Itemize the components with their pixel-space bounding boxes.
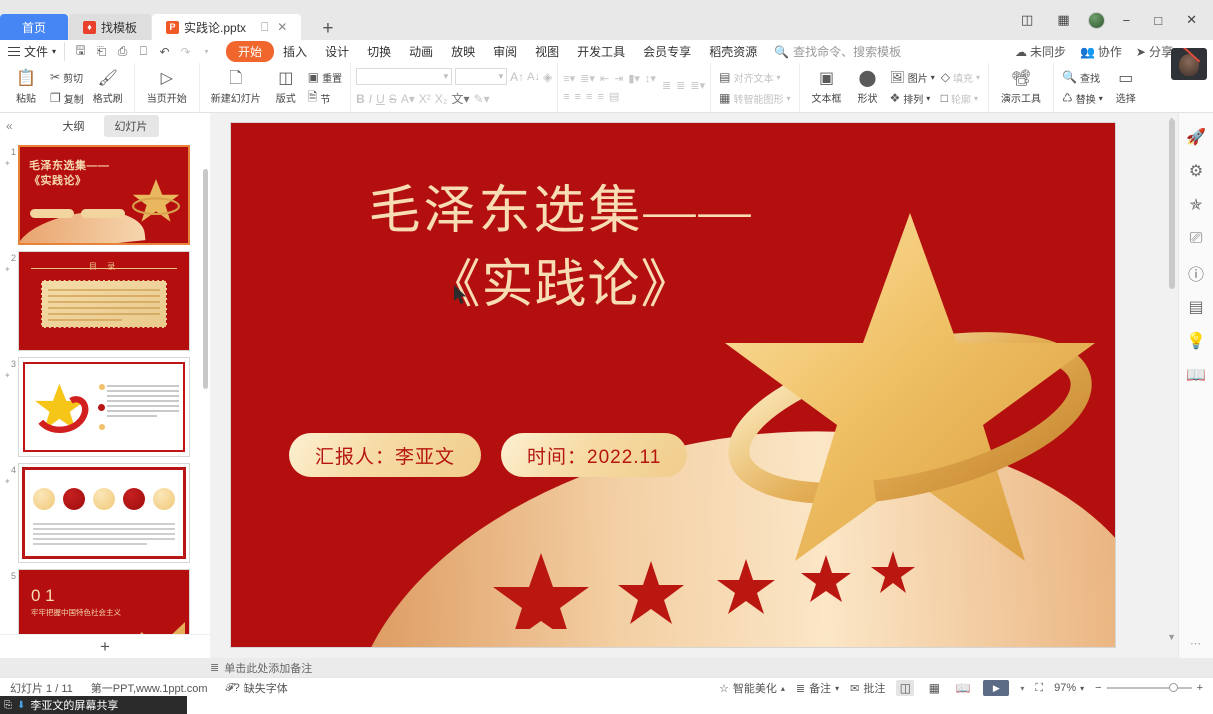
grow-font-button[interactable]: A↑ bbox=[510, 70, 524, 84]
share-label: 分享 bbox=[1149, 43, 1173, 60]
minimize-button[interactable]: − bbox=[1117, 11, 1137, 30]
reading-view-icon[interactable]: 📖 bbox=[954, 680, 972, 696]
zoom-out-button[interactable]: − bbox=[1095, 682, 1101, 694]
tab-home-label: 首页 bbox=[22, 19, 46, 36]
slide-thumbnail-3[interactable]: 3 ✦ bbox=[0, 351, 210, 457]
screen-share-label: 李亚文的屏幕共享 bbox=[30, 697, 118, 713]
share-button[interactable]: ➤ 分享 bbox=[1136, 43, 1173, 60]
thumb-text-lines bbox=[107, 382, 179, 420]
ribbon-group-text-align: ▤ 对齐文本 ▾ ▦ 转智能图形 ▾ bbox=[711, 63, 799, 113]
screen-share-bar[interactable]: ⎘ ⬇ 李亚文的屏幕共享 bbox=[0, 696, 187, 714]
present-tools-icon: 📽 bbox=[1011, 70, 1031, 88]
search-box[interactable]: 🔍 查找命令、搜索模板 bbox=[774, 43, 901, 60]
download-icon: ⬇ bbox=[17, 700, 25, 711]
arrange-icon: ❖ bbox=[890, 91, 901, 105]
shape-button[interactable]: ⬤ 形状 bbox=[849, 65, 887, 111]
align-text-label: 对齐文本 bbox=[733, 70, 773, 85]
wps-presentation-window: 首页 ♦ 找模板 P 实践论.pptx ⎕ ✕ + ◫ ▦ − □ ✕ bbox=[0, 0, 1213, 714]
list-style-2-icon[interactable]: ≣ bbox=[676, 79, 685, 92]
thumb-toc-header: 目 录 bbox=[19, 261, 189, 272]
notes-icon: ≣ bbox=[210, 661, 219, 674]
ribbon-group-slides: 🗋 新建幻灯片 ◫ 版式 ▣ 重置 🗎 节 bbox=[200, 63, 351, 113]
shape-icon: ⬤ bbox=[859, 70, 877, 88]
zoom-in-button[interactable]: + bbox=[1197, 682, 1203, 694]
indent-icon[interactable]: ⇥ bbox=[614, 72, 623, 85]
play-slideshow-button[interactable]: ▶ bbox=[983, 680, 1009, 696]
slide-panel-tabs: « 大纲 幻灯片 bbox=[0, 113, 210, 139]
share-icon: ➤ bbox=[1136, 45, 1146, 59]
avatar[interactable] bbox=[1088, 12, 1105, 29]
present-tools-label: 演示工具 bbox=[1001, 90, 1041, 105]
outline-button[interactable]: □ 轮廓 ▾ bbox=[938, 89, 983, 107]
search-placeholder: 查找命令、搜索模板 bbox=[793, 43, 901, 60]
print-icon[interactable]: ⎙ bbox=[113, 42, 132, 61]
distribute-icon[interactable]: ▤ bbox=[609, 90, 619, 103]
align-left-icon[interactable]: ≡ bbox=[563, 91, 569, 103]
maximize-button[interactable]: □ bbox=[1148, 11, 1168, 30]
start-from-page-button[interactable]: ▷ 当页开始 bbox=[140, 65, 194, 111]
slide-title-line1: 毛泽东选集—— bbox=[231, 175, 891, 249]
arrange-label: 排列 bbox=[903, 91, 923, 106]
sliders-icon[interactable]: ⚙ bbox=[1186, 161, 1206, 181]
normal-view-icon[interactable]: ◫ bbox=[896, 680, 914, 696]
play-circle-icon: ▷ bbox=[161, 70, 173, 88]
smart-beautify-button[interactable]: ☆ 智能美化 ▴ bbox=[719, 680, 785, 696]
ribbon-group-slideshow: ▷ 当页开始 bbox=[135, 63, 200, 113]
tab-docer[interactable]: 稻壳资源 bbox=[700, 41, 766, 62]
replace-icon: ♺ bbox=[1062, 91, 1073, 105]
save-icon[interactable]: 🖫 bbox=[71, 42, 90, 61]
pinyin-icon[interactable]: 文▾ bbox=[452, 90, 470, 107]
align-center-icon[interactable]: ≡ bbox=[575, 91, 581, 103]
subscript-button[interactable]: X₂ bbox=[435, 92, 448, 106]
comment-icon: ✉ bbox=[850, 682, 859, 695]
slide-star-icon: ✦ bbox=[4, 159, 11, 168]
tab-start[interactable]: 开始 bbox=[226, 41, 274, 62]
reset-button[interactable]: ▣ 重置 bbox=[305, 68, 345, 86]
ribbon-group-paragraph: ≡▾ ≣▾ ⇤ ⇥ ▮▾ ↕▾ ≡ ≡ ≡ ≡ ▤ ≣ ≣ bbox=[558, 63, 711, 113]
picture-label: 图片 bbox=[908, 70, 928, 85]
slide-star-icon: ✦ bbox=[4, 477, 11, 486]
add-slide-button[interactable]: + bbox=[0, 634, 210, 658]
status-bar: 幻灯片 1 / 11 第一PPT,www.1ppt.com 𝓕? 缺失字体 ☆ … bbox=[0, 677, 1213, 698]
select-icon: ▭ bbox=[1118, 70, 1133, 88]
slide-thumbnail-4[interactable]: 4 ✦ bbox=[0, 457, 210, 563]
superscript-button[interactable]: X² bbox=[419, 92, 431, 106]
slide-number: 5 bbox=[2, 571, 16, 581]
zoom-level-label: 97% bbox=[1054, 682, 1076, 694]
document-tab-bar: 首页 ♦ 找模板 P 实践论.pptx ⎕ ✕ + ◫ ▦ − □ ✕ bbox=[0, 0, 1213, 40]
right-tool-rail: 🚀 ⚙ ✯ ⎚ ⓘ ▤ 💡 📖 ⋯ bbox=[1178, 113, 1213, 658]
book-icon[interactable]: 📖 bbox=[1186, 365, 1206, 385]
hamburger-icon bbox=[8, 44, 20, 59]
undo-icon[interactable]: ↶ bbox=[155, 42, 174, 61]
current-slide[interactable]: 毛泽东选集—— 《实践论》 汇报人：李亚文 时间：2022.11 bbox=[231, 123, 1115, 647]
text-shadow-button[interactable]: A▾ bbox=[401, 92, 415, 106]
missing-font-icon: 𝓕? bbox=[226, 682, 240, 695]
split-view-icon[interactable]: ◫ bbox=[1015, 10, 1039, 30]
section-icon: 🗎 bbox=[308, 88, 318, 109]
slide-thumbnail-1[interactable]: 1 ✦ 毛泽东选集—— 《实践论》 bbox=[0, 139, 210, 245]
new-slide-icon: 🗋 bbox=[229, 70, 242, 88]
font-name-input[interactable]: ▾ bbox=[356, 68, 452, 85]
slide-thumbnail-2[interactable]: 2 ✦ 目 录 bbox=[0, 245, 210, 351]
tab-outline[interactable]: 大纲 bbox=[52, 115, 96, 137]
underline-button[interactable]: U bbox=[376, 92, 385, 106]
collaborate-label: 协作 bbox=[1098, 43, 1122, 60]
grid-view-icon[interactable]: ▦ bbox=[1051, 10, 1075, 30]
align-text-button[interactable]: ▤ 对齐文本 ▾ bbox=[716, 68, 793, 86]
tab-find-template-label: 找模板 bbox=[101, 19, 137, 36]
presenter-pill[interactable]: 汇报人：李亚文 bbox=[289, 433, 481, 477]
date-pill[interactable]: 时间：2022.11 bbox=[501, 433, 687, 477]
tab-developer[interactable]: 开发工具 bbox=[568, 41, 634, 62]
chart-tool-icon[interactable]: ▤ bbox=[1186, 297, 1206, 317]
star-ribbon-emblem-icon bbox=[33, 380, 95, 438]
picture-icon: 🖼 bbox=[890, 70, 905, 84]
picture-button[interactable]: 🖼 图片 ▾ bbox=[887, 68, 938, 86]
save-as-icon[interactable]: ⎗ bbox=[92, 42, 111, 61]
close-icon[interactable]: ✕ bbox=[277, 20, 287, 34]
workspace: « 大纲 幻灯片 1 ✦ 毛泽东选集—— 《实践论》 bbox=[0, 113, 1213, 658]
tab-insert[interactable]: 插入 bbox=[274, 41, 316, 62]
menu-bar: 文件 ▾ 🖫 ⎗ ⎙ ⎕ ↶ ↷ ▾ 开始 插入 设计 切换 动画 放映 审阅 … bbox=[0, 40, 1213, 63]
thumb-pills bbox=[30, 209, 125, 218]
screen-share-icon: ⎘ bbox=[4, 700, 12, 711]
thumb-section-subtitle: 牢牢把握中国特色社会主义 bbox=[31, 608, 131, 618]
quick-access-toolbar: 🖫 ⎗ ⎙ ⎕ ↶ ↷ ▾ bbox=[64, 42, 222, 61]
layout-button[interactable]: ◫ 版式 bbox=[267, 65, 305, 111]
slide-panel-scrollbar[interactable] bbox=[203, 169, 208, 389]
thumb-text-lines bbox=[33, 520, 175, 548]
zoom-level[interactable]: 97% ▾ bbox=[1054, 682, 1084, 694]
present-tools-button[interactable]: 📽 演示工具 bbox=[994, 65, 1048, 111]
bold-button[interactable]: B bbox=[356, 92, 365, 106]
collapse-panel-icon[interactable]: « bbox=[6, 119, 13, 133]
tab-review[interactable]: 审阅 bbox=[484, 41, 526, 62]
rocket-icon[interactable]: 🚀 bbox=[1186, 127, 1206, 147]
thumb-circles bbox=[33, 488, 175, 510]
slide-counter: 幻灯片 1 / 11 bbox=[10, 680, 73, 696]
slide-title-line2: 《实践论》 bbox=[231, 249, 891, 323]
slide-star-icon: ✦ bbox=[4, 371, 11, 380]
thumb-section-number: 0 1 bbox=[31, 586, 55, 606]
collaborate-button[interactable]: 👥 协作 bbox=[1080, 43, 1122, 60]
thumbnail-canvas[interactable] bbox=[18, 357, 190, 457]
highlight-icon[interactable]: ✎▾ bbox=[474, 92, 490, 106]
font-size-input[interactable]: ▾ bbox=[455, 68, 507, 85]
gold-star-icon bbox=[130, 175, 182, 227]
missing-font-label: 缺失字体 bbox=[244, 680, 288, 696]
notes-placeholder: 单击此处添加备注 bbox=[224, 660, 312, 676]
beautify-label: 智能美化 bbox=[733, 680, 777, 696]
pptx-icon: P bbox=[166, 21, 179, 34]
star-tool-icon[interactable]: ✯ bbox=[1186, 195, 1206, 215]
thumb-textbox bbox=[41, 280, 167, 328]
scroll-down-arrow[interactable]: ▼ bbox=[1167, 632, 1176, 642]
format-painter-icon: 🖌 bbox=[98, 70, 118, 88]
shape-label: 形状 bbox=[858, 90, 878, 105]
clear-format-icon[interactable]: ◈ bbox=[543, 70, 552, 84]
slide-title[interactable]: 毛泽东选集—— 《实践论》 bbox=[231, 175, 891, 323]
layout-label: 版式 bbox=[276, 90, 296, 105]
scissors-icon: ✂ bbox=[50, 70, 60, 84]
redo-icon[interactable]: ↷ bbox=[176, 42, 195, 61]
slide-star-icon: ✦ bbox=[4, 265, 11, 274]
tab-animation[interactable]: 动画 bbox=[400, 41, 442, 62]
line-spacing-icon[interactable]: ↕▾ bbox=[645, 72, 656, 85]
tab-design[interactable]: 设计 bbox=[316, 41, 358, 62]
slide-number: 4 bbox=[2, 465, 16, 475]
new-slide-button[interactable]: 🗋 新建幻灯片 bbox=[205, 65, 267, 111]
copy-icon: ❐ bbox=[50, 91, 61, 105]
section-button[interactable]: 🗎 节 bbox=[305, 89, 345, 107]
textbox-button[interactable]: ▣ 文本框 bbox=[805, 65, 849, 111]
tab-slideshow[interactable]: 放映 bbox=[442, 41, 484, 62]
bullet-list-icon[interactable]: ≡▾ bbox=[563, 72, 575, 85]
chevron-down-icon: ▾ bbox=[52, 47, 56, 56]
thumbnail-canvas[interactable]: 毛泽东选集—— 《实践论》 bbox=[18, 145, 190, 245]
tab-view[interactable]: 视图 bbox=[526, 41, 568, 62]
comment-label: 批注 bbox=[863, 680, 885, 696]
arrange-button[interactable]: ❖ 排列 ▾ bbox=[887, 89, 938, 107]
fill-label: 填充 bbox=[953, 70, 973, 85]
cut-label: 剪切 bbox=[63, 70, 83, 85]
paste-button[interactable]: 📋 粘贴 bbox=[5, 65, 47, 111]
frame-icon[interactable]: ⎚ bbox=[1186, 229, 1206, 249]
slide-canvas-area: ▲ ▼ bbox=[210, 113, 1178, 658]
slide-number: 2 bbox=[2, 253, 16, 263]
align-text-icon: ▤ bbox=[719, 70, 730, 84]
sync-status-label: 未同步 bbox=[1030, 43, 1066, 60]
collaborate-icon: 👥 bbox=[1080, 45, 1095, 59]
reset-label: 重置 bbox=[322, 70, 342, 85]
file-menu-button[interactable]: 文件 ▾ bbox=[0, 43, 62, 60]
ribbon-group-clipboard: 📋 粘贴 ✂ 剪切 ❐ 复制 🖌 格式刷 bbox=[0, 63, 135, 113]
outline-icon: □ bbox=[941, 91, 948, 105]
zoom-track[interactable] bbox=[1107, 687, 1192, 689]
zoom-knob[interactable] bbox=[1169, 683, 1178, 692]
ribbon-tabs: 开始 插入 设计 切换 动画 放映 审阅 视图 开发工具 会员专享 稻壳资源 bbox=[226, 41, 766, 62]
cloud-sync-icon: ☁ bbox=[1015, 45, 1027, 59]
textbox-label: 文本框 bbox=[812, 90, 842, 105]
format-painter-button[interactable]: 🖌 格式刷 bbox=[87, 65, 129, 111]
source-label: 第一PPT,www.1ppt.com bbox=[91, 680, 208, 696]
beautify-icon: ☆ bbox=[719, 682, 729, 695]
select-label: 选择 bbox=[1116, 90, 1136, 105]
notes-toggle-label: 备注 bbox=[809, 680, 831, 696]
notes-pane[interactable]: ≣ 单击此处添加备注 bbox=[0, 658, 1213, 677]
thumbnail-canvas[interactable] bbox=[18, 463, 190, 563]
file-menu-label: 文件 bbox=[24, 43, 48, 60]
find-icon: 🔍 bbox=[1062, 70, 1077, 84]
section-label: 节 bbox=[320, 91, 330, 106]
new-tab-button[interactable]: + bbox=[316, 18, 339, 40]
ribbon-group-present-tools: 📽 演示工具 bbox=[989, 63, 1054, 113]
canvas-scrollbar[interactable] bbox=[1169, 119, 1175, 289]
close-window-button[interactable]: ✕ bbox=[1180, 10, 1203, 30]
tab-transition[interactable]: 切换 bbox=[358, 41, 400, 62]
paste-label: 粘贴 bbox=[16, 90, 36, 105]
fit-slide-icon: ⛶ bbox=[1035, 682, 1043, 695]
ribbon-group-font: ▾ ▾ A↑ A↓ ◈ B I U S A▾ X² X₂ 文▾ ✎▾ bbox=[351, 63, 558, 113]
strikethrough-button[interactable]: S bbox=[389, 92, 397, 106]
select-button[interactable]: ▭ 选择 bbox=[1106, 65, 1146, 111]
help-icon[interactable]: ⓘ bbox=[1186, 263, 1206, 283]
list-style-3-icon[interactable]: ≣▾ bbox=[690, 79, 705, 92]
customize-icon[interactable]: ▾ bbox=[197, 42, 216, 61]
notes-toggle-icon: ≣ bbox=[796, 682, 805, 695]
print-preview-icon[interactable]: ⎕ bbox=[134, 42, 153, 61]
restore-icon[interactable]: ⎕ bbox=[261, 20, 268, 35]
numbered-list-icon[interactable]: ≣▾ bbox=[580, 72, 595, 85]
ribbon-group-editing: 🔍 查找 ♺ 替换 ▾ ▭ 选择 bbox=[1054, 63, 1151, 113]
tab-slides[interactable]: 幻灯片 bbox=[104, 115, 159, 137]
notes-toggle-button[interactable]: ≣ 备注 ▾ bbox=[796, 680, 839, 696]
search-icon: 🔍 bbox=[774, 45, 789, 59]
shrink-font-button[interactable]: A↓ bbox=[527, 71, 540, 83]
small-stars-row bbox=[481, 539, 1041, 629]
outline-label: 轮廓 bbox=[951, 91, 971, 106]
slide-sorter-icon[interactable]: ▦ bbox=[925, 680, 943, 696]
sync-status[interactable]: ☁ 未同步 bbox=[1015, 43, 1066, 60]
tab-document-pptx[interactable]: P 实践论.pptx ⎕ ✕ bbox=[152, 14, 301, 40]
list-style-1-icon[interactable]: ≣ bbox=[662, 79, 671, 92]
textbox-icon: ▣ bbox=[819, 70, 834, 88]
slide-thumbnail-panel[interactable]: 1 ✦ 毛泽东选集—— 《实践论》 bbox=[0, 139, 210, 658]
idea-icon[interactable]: 💡 bbox=[1186, 331, 1206, 351]
tab-document-label: 实践论.pptx bbox=[184, 19, 246, 36]
comment-button[interactable]: ✉ 批注 bbox=[850, 680, 885, 696]
justify-icon[interactable]: ≡ bbox=[597, 91, 603, 103]
find-button[interactable]: 🔍 查找 bbox=[1059, 68, 1106, 86]
tab-home[interactable]: 首页 bbox=[0, 14, 68, 40]
play-options-chevron-icon[interactable]: ▾ bbox=[1020, 684, 1024, 693]
slide-number: 3 bbox=[2, 359, 16, 369]
layout-icon: ◫ bbox=[278, 70, 293, 88]
thumbnail-canvas[interactable]: 目 录 bbox=[18, 251, 190, 351]
ribbon-group-drawing: ▣ 文本框 ⬤ 形状 🖼 图片 ▾ ❖ 排列 ▾ bbox=[800, 63, 990, 113]
align-right-icon[interactable]: ≡ bbox=[586, 91, 592, 103]
ribbon-toolbar: 📋 粘贴 ✂ 剪切 ❐ 复制 🖌 格式刷 ▷ 当页开始 bbox=[0, 63, 1213, 113]
text-direction-icon[interactable]: ▮▾ bbox=[628, 72, 640, 85]
start-from-page-label: 当页开始 bbox=[147, 90, 187, 105]
more-tools-icon[interactable]: ⋯ bbox=[1190, 637, 1202, 650]
slide-number: 1 bbox=[2, 147, 16, 157]
replace-button[interactable]: ♺ 替换 ▾ bbox=[1059, 89, 1106, 107]
convert-smartart-label: 转智能图形 bbox=[733, 91, 783, 106]
find-label: 查找 bbox=[1080, 70, 1100, 85]
presenter-camera-overlay bbox=[1171, 48, 1207, 80]
convert-smartart-button[interactable]: ▦ 转智能图形 ▾ bbox=[716, 89, 793, 107]
tab-member[interactable]: 会员专享 bbox=[634, 41, 700, 62]
zoom-slider[interactable]: − + bbox=[1095, 682, 1203, 694]
template-icon: ♦ bbox=[83, 21, 96, 34]
new-slide-label: 新建幻灯片 bbox=[211, 90, 261, 105]
copy-label: 复制 bbox=[64, 91, 84, 106]
tab-find-template[interactable]: ♦ 找模板 bbox=[69, 14, 151, 40]
missing-font-warning[interactable]: 𝓕? 缺失字体 bbox=[226, 680, 288, 696]
fill-button[interactable]: ◇ 填充 ▾ bbox=[938, 68, 983, 86]
fit-slide-button[interactable]: ⛶ bbox=[1035, 682, 1043, 695]
cut-button[interactable]: ✂ 剪切 bbox=[47, 68, 87, 86]
fill-icon: ◇ bbox=[941, 70, 950, 84]
copy-button[interactable]: ❐ 复制 bbox=[47, 89, 87, 107]
mouse-cursor bbox=[454, 285, 468, 305]
slide-info-pills: 汇报人：李亚文 时间：2022.11 bbox=[289, 433, 687, 477]
outdent-icon[interactable]: ⇤ bbox=[600, 72, 609, 85]
paste-icon: 📋 bbox=[16, 70, 36, 88]
format-painter-label: 格式刷 bbox=[93, 90, 123, 105]
smartart-icon: ▦ bbox=[719, 91, 730, 105]
replace-label: 替换 bbox=[1076, 91, 1096, 106]
reset-icon: ▣ bbox=[308, 70, 319, 84]
italic-button[interactable]: I bbox=[369, 92, 372, 106]
chevron-up-icon: ▴ bbox=[781, 684, 785, 693]
thumb-title: 毛泽东选集—— 《实践论》 bbox=[29, 159, 110, 189]
